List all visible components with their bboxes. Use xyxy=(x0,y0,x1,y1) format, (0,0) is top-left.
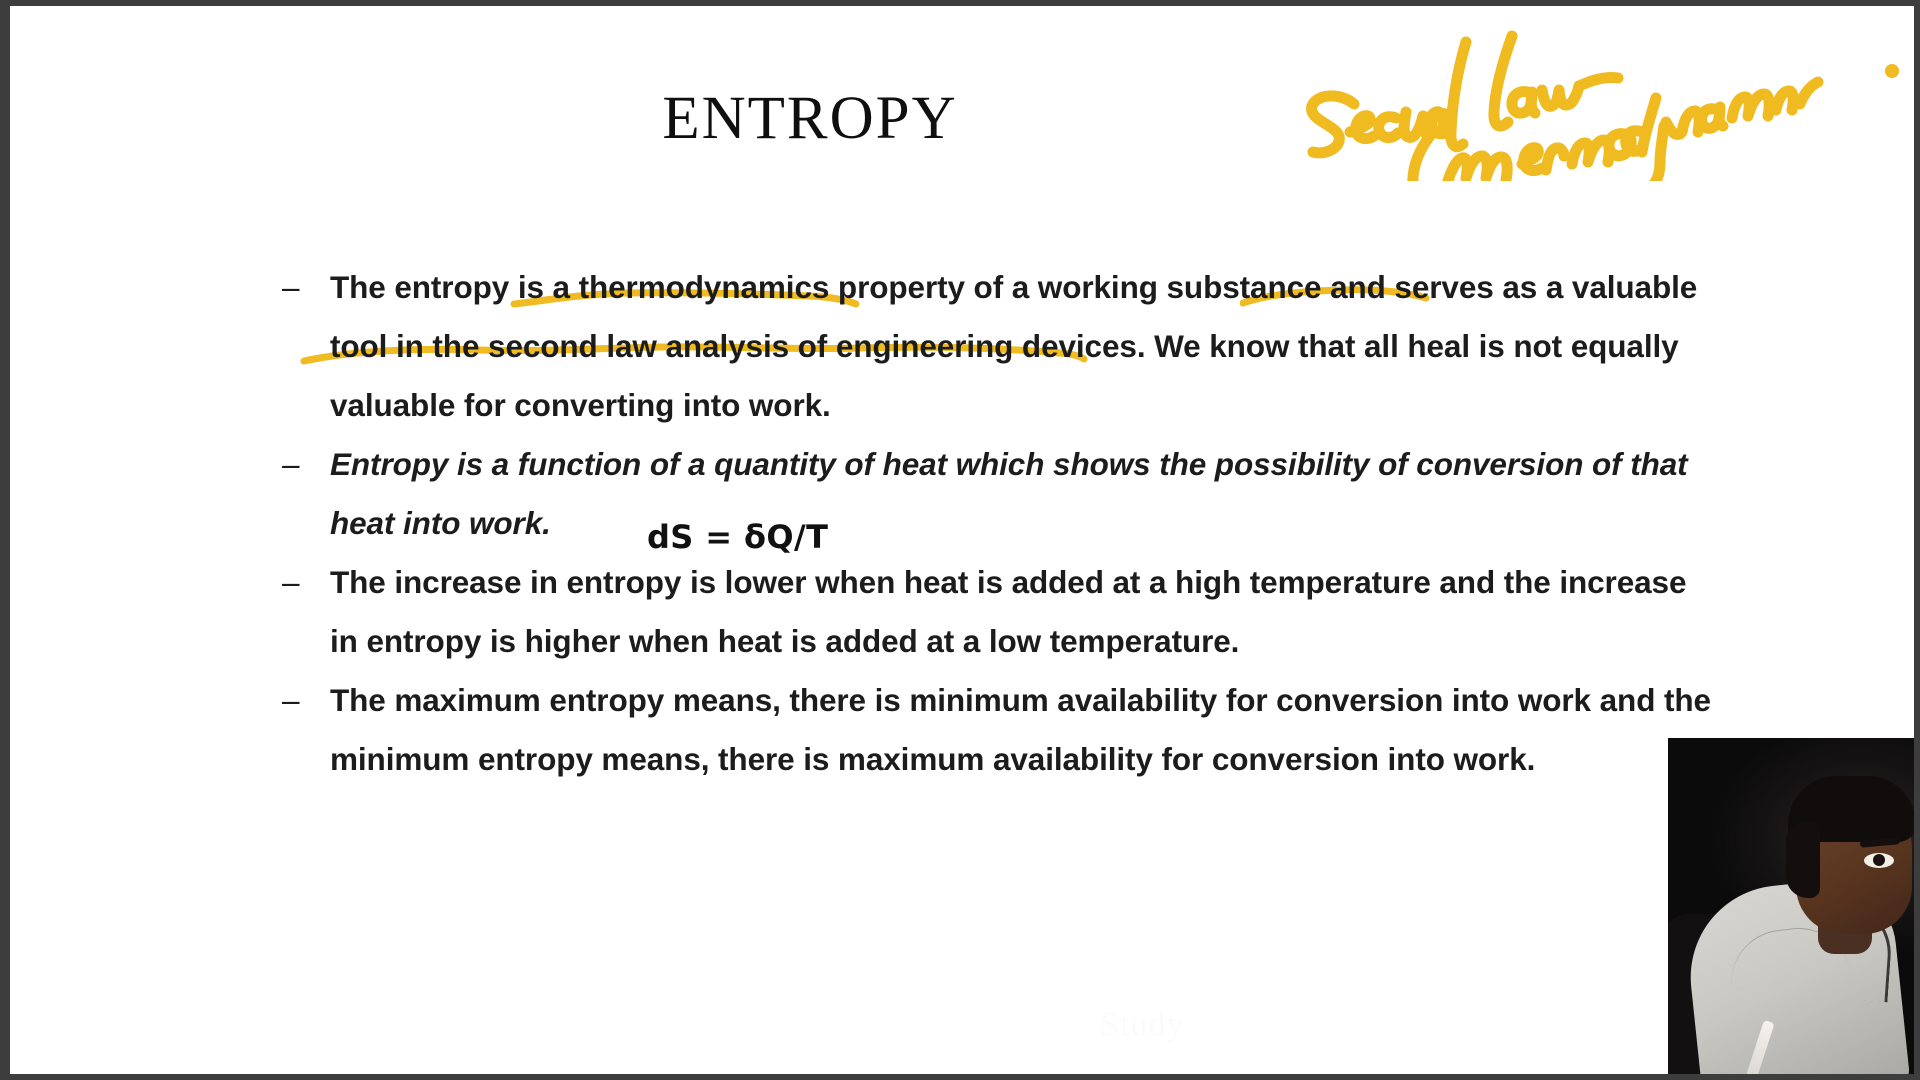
presenter-hair-side xyxy=(1786,822,1820,898)
list-item: – The increase in entropy is lower when … xyxy=(282,553,1722,671)
list-item: – The entropy is a thermodynamics proper… xyxy=(282,258,1722,435)
presenter-video-overlay[interactable] xyxy=(1668,738,1914,1074)
bullet-list: – The entropy is a thermodynamics proper… xyxy=(282,258,1722,789)
slide-canvas: ENTROPY xyxy=(10,6,1914,1074)
bullet-text: The increase in entropy is lower when he… xyxy=(330,564,1686,659)
presenter-pupil xyxy=(1873,854,1885,866)
watermark: Study xyxy=(1100,1006,1184,1044)
list-item: – The maximum entropy means, there is mi… xyxy=(282,671,1722,789)
list-item: – Entropy is a function of a quantity of… xyxy=(282,435,1722,553)
bullet-dash: – xyxy=(282,553,299,612)
bullet-text: Entropy is a function of a quantity of h… xyxy=(330,446,1688,541)
entropy-formula: dS = δQ/T xyxy=(647,518,828,556)
bullet-dash: – xyxy=(282,671,299,730)
bullet-text: The maximum entropy means, there is mini… xyxy=(330,682,1711,777)
bullet-text: The entropy is a thermodynamics property… xyxy=(330,269,1697,423)
bullet-dash: – xyxy=(282,258,299,317)
page-title: ENTROPY xyxy=(10,84,1610,154)
bullet-dash: – xyxy=(282,435,299,494)
video-frame: ENTROPY xyxy=(0,0,1920,1080)
